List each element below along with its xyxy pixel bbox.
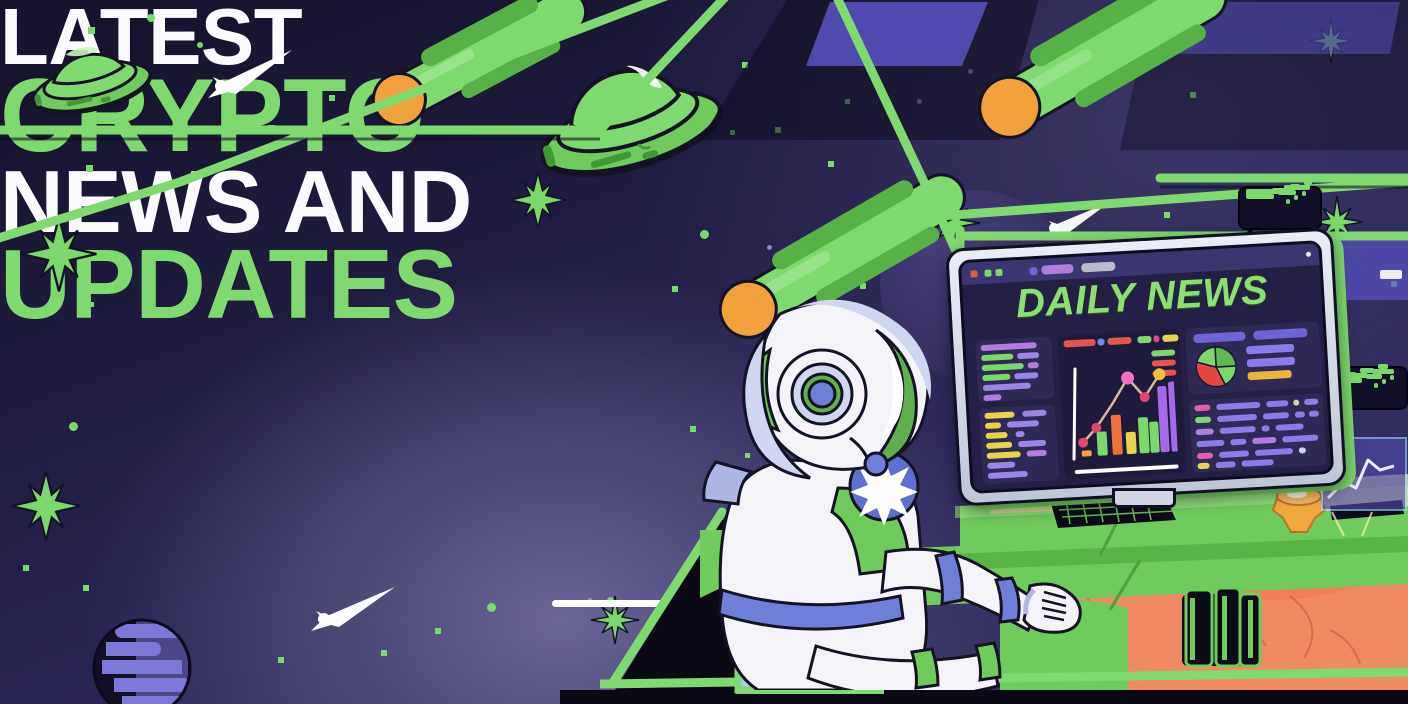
list-bar	[1017, 352, 1039, 359]
list-bar	[982, 363, 1024, 371]
list-bar	[981, 342, 1037, 351]
monitor-screen[interactable]: DAILY NEWS	[958, 240, 1334, 494]
list-bar	[986, 442, 1012, 449]
list-bar	[1014, 372, 1038, 379]
list-bar	[1022, 410, 1046, 417]
titlebar-dot-green[interactable]	[995, 269, 1002, 276]
list-bar	[988, 471, 1028, 479]
list-bar	[987, 451, 1021, 459]
pie-legend	[1246, 344, 1296, 381]
pie-chart	[1192, 345, 1240, 390]
pie-header-pill	[1193, 331, 1245, 343]
chart-plot	[1062, 348, 1178, 472]
list-bar	[985, 422, 1001, 429]
pie-header-pill	[1253, 328, 1307, 340]
list-bar	[985, 432, 1007, 439]
list-bar	[1015, 431, 1024, 437]
list-bar	[984, 411, 1014, 419]
upper-terminal-screen[interactable]	[1238, 186, 1322, 230]
monitor[interactable]: DAILY NEWS	[952, 238, 1342, 500]
list-bar	[983, 394, 1001, 401]
list-bar	[981, 353, 1013, 361]
titlebar-indicator	[1306, 252, 1311, 257]
panel-article-list-top-left[interactable]	[975, 336, 1054, 402]
list-bar	[1018, 440, 1046, 448]
list-bar	[1007, 420, 1039, 428]
panel-article-list-bottom-left[interactable]	[979, 404, 1059, 484]
titlebar-dot-green[interactable]	[984, 269, 991, 276]
chart-toolbar	[1063, 334, 1173, 347]
titlebar-pill-purple[interactable]	[1041, 264, 1073, 275]
panel-chart-center[interactable]	[1057, 329, 1187, 480]
titlebar-dot-red[interactable]	[970, 270, 977, 277]
banner-image: DAILY NEWS	[0, 0, 1408, 704]
list-bar	[1026, 450, 1046, 457]
panel-pie-top-right[interactable]	[1185, 321, 1322, 394]
list-bar	[982, 374, 1010, 382]
panel-table-bottom-right[interactable]	[1189, 393, 1327, 472]
list-bar	[987, 461, 1015, 469]
list-bar	[983, 382, 1031, 391]
monitor-stand	[1112, 488, 1176, 508]
titlebar-pill-grey[interactable]	[1081, 262, 1115, 273]
list-bar	[1028, 362, 1039, 369]
titlebar-pill-blue[interactable]	[1029, 267, 1037, 275]
